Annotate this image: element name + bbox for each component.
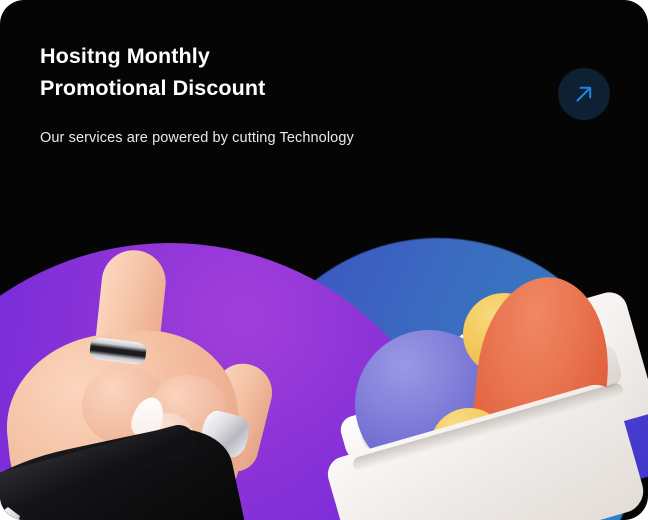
blue-cube-object bbox=[601, 411, 648, 486]
headline-line-1: Hositng Monthly bbox=[40, 40, 510, 72]
promotional-discount-card: Hositng Monthly Promotional Discount Our… bbox=[0, 0, 648, 520]
basket-rim bbox=[337, 341, 624, 462]
blue-arc-shape bbox=[238, 238, 638, 520]
black-sleeve bbox=[0, 416, 251, 520]
index-finger bbox=[91, 247, 169, 388]
hand-3d-object bbox=[0, 255, 320, 520]
knuckle-left bbox=[82, 367, 168, 445]
studded-bracelet bbox=[0, 421, 199, 515]
card-header: Hositng Monthly Promotional Discount Our… bbox=[40, 40, 510, 148]
subtitle: Our services are powered by cutting Tech… bbox=[40, 128, 510, 148]
black-silver-ring bbox=[89, 337, 147, 366]
silver-ring bbox=[198, 408, 253, 460]
white-basket-object bbox=[336, 300, 648, 520]
yellow-sphere-front-object bbox=[430, 408, 508, 486]
palm bbox=[0, 321, 250, 520]
page-title: Hositng Monthly Promotional Discount bbox=[40, 40, 510, 104]
arrow-up-right-icon bbox=[573, 83, 595, 105]
yellow-sphere-back-object bbox=[463, 293, 545, 375]
orange-cone-object bbox=[469, 271, 618, 469]
pinky-finger bbox=[196, 358, 278, 477]
white-basket-front bbox=[336, 300, 648, 520]
bracelet-stud bbox=[0, 507, 20, 520]
basket-back-panel bbox=[449, 288, 648, 482]
basket-inner-shadow bbox=[351, 382, 624, 473]
periwinkle-sphere-object bbox=[355, 330, 503, 478]
purple-sphere-shape bbox=[0, 243, 470, 520]
open-link-button[interactable] bbox=[558, 68, 610, 120]
basket-front-panel bbox=[324, 379, 648, 520]
thumb-tip bbox=[136, 407, 199, 467]
basket-inner-wall bbox=[358, 360, 593, 454]
headline-line-2: Promotional Discount bbox=[40, 72, 510, 104]
knuckle-right bbox=[148, 375, 228, 451]
fingernail bbox=[127, 393, 169, 442]
